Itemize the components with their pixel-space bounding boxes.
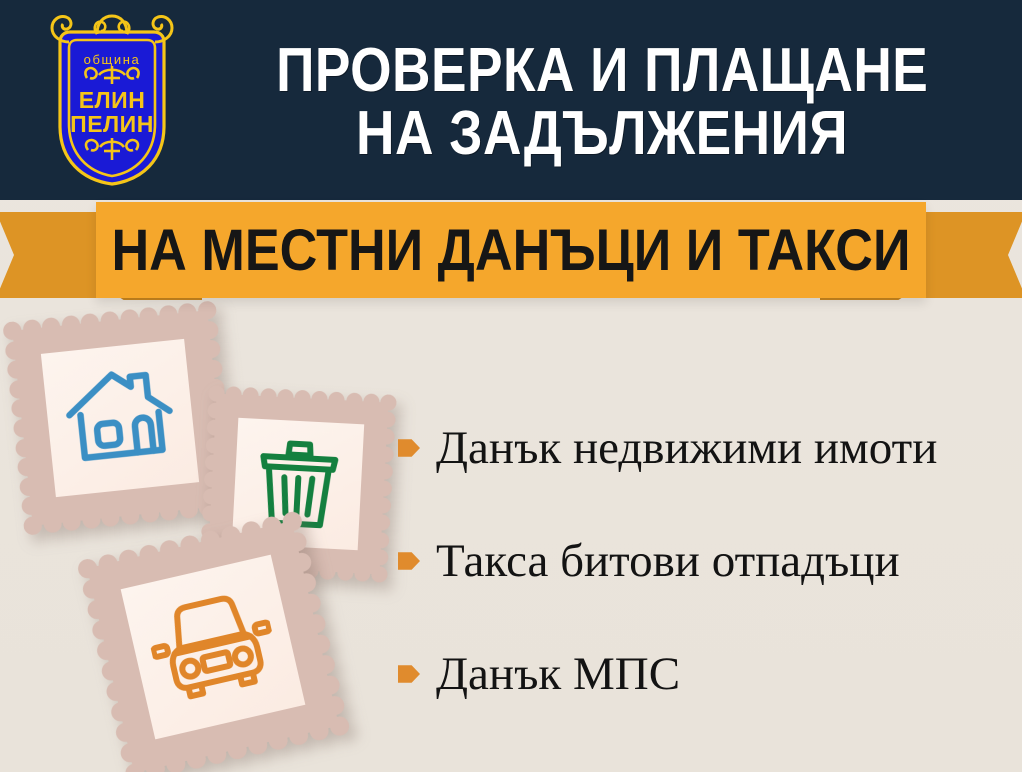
list-item[interactable]: Данък МПС bbox=[398, 644, 1013, 704]
arrow-bullet-icon bbox=[398, 550, 420, 572]
ribbon-label: НА МЕСТНИ ДАНЪЦИ И ТАКСИ bbox=[138, 202, 885, 298]
house-icon bbox=[12, 310, 227, 525]
poster-canvas: община ЕЛИН ПЕЛИН bbox=[0, 0, 1022, 772]
arrow-bullet-icon bbox=[398, 663, 420, 685]
svg-text:ЕЛИН: ЕЛИН bbox=[79, 87, 146, 113]
list-item[interactable]: Данък недвижими имоти bbox=[398, 418, 1013, 478]
tax-type-list: Данък недвижими имоти Такса битови отпад… bbox=[398, 418, 1013, 757]
stamp-scalloped-border bbox=[87, 521, 339, 772]
title-line-1: ПРОВЕРКА И ПЛАЩАНЕ bbox=[276, 39, 928, 102]
list-item-label: Данък недвижими имоти bbox=[436, 425, 937, 472]
title-line-2: НА ЗАДЪЛЖЕНИЯ bbox=[356, 102, 848, 165]
list-item-label: Такса битови отпадъци bbox=[436, 538, 900, 585]
header-bar: община ЕЛИН ПЕЛИН bbox=[0, 0, 1022, 200]
municipality-emblem-icon: община ЕЛИН ПЕЛИН bbox=[42, 8, 182, 190]
ribbon-band: НА МЕСТНИ ДАНЪЦИ И ТАКСИ bbox=[96, 202, 926, 298]
arrow-bullet-icon bbox=[398, 437, 420, 459]
stamp-card-property bbox=[12, 310, 227, 525]
list-item-label: Данък МПС bbox=[436, 651, 680, 698]
svg-text:ПЕЛИН: ПЕЛИН bbox=[70, 111, 154, 137]
stamp-card-vehicle bbox=[87, 521, 339, 772]
stamp-scalloped-border bbox=[12, 310, 227, 525]
subtitle-ribbon: НА МЕСТНИ ДАНЪЦИ И ТАКСИ bbox=[0, 196, 1022, 306]
page-title: ПРОВЕРКА И ПЛАЩАНЕ НА ЗАДЪЛЖЕНИЯ bbox=[192, 14, 1012, 190]
svg-text:община: община bbox=[84, 52, 141, 67]
list-item[interactable]: Такса битови отпадъци bbox=[398, 531, 1013, 591]
